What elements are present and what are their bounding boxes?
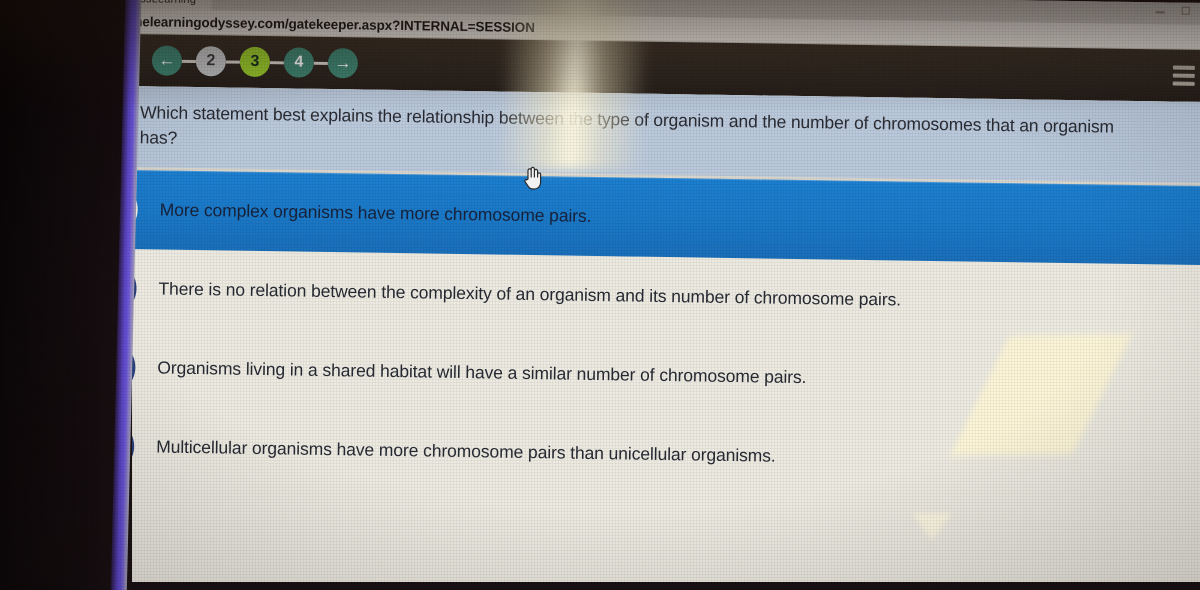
minimize-icon[interactable] xyxy=(1156,12,1165,14)
window-controls: ✕ xyxy=(1155,4,1200,16)
answer-options: A More complex organisms have more chrom… xyxy=(53,169,1200,502)
monitor-bottom-edge xyxy=(132,582,1200,590)
screen-photo: CompassLearning ✕ www.thelearningodyssey… xyxy=(0,0,1200,590)
address-bar-url: www.thelearningodyssey.com/gatekeeper.as… xyxy=(95,13,535,35)
page-3-button[interactable]: 3 xyxy=(240,47,270,77)
browser-window: CompassLearning ✕ www.thelearningodyssey… xyxy=(51,0,1200,590)
pager-connector xyxy=(182,59,196,62)
quiz-body: Which statement best explains the relati… xyxy=(50,85,1200,590)
list-icon[interactable] xyxy=(1173,66,1195,86)
pager-connector xyxy=(226,60,240,63)
next-button[interactable]: → xyxy=(328,48,358,78)
maximize-icon[interactable] xyxy=(1181,6,1189,14)
option-text-d: Multicellular organisms have more chromo… xyxy=(156,436,776,466)
prev-button[interactable]: ← xyxy=(152,45,182,75)
page-4-button[interactable]: 4 xyxy=(284,47,314,77)
option-text-b: There is no relation between the complex… xyxy=(158,278,901,310)
question-text: Which statement best explains the relati… xyxy=(140,100,1126,165)
pager-connector xyxy=(314,61,328,64)
answer-option-d[interactable]: D Multicellular organisms have more chro… xyxy=(53,406,1200,502)
option-text-c: Organisms living in a shared habitat wil… xyxy=(157,357,806,388)
page-2-button[interactable]: 2 xyxy=(196,46,226,76)
option-text-a: More complex organisms have more chromos… xyxy=(160,199,592,226)
pager-connector xyxy=(270,61,284,64)
pager: ← 2 3 4 → xyxy=(152,45,358,78)
